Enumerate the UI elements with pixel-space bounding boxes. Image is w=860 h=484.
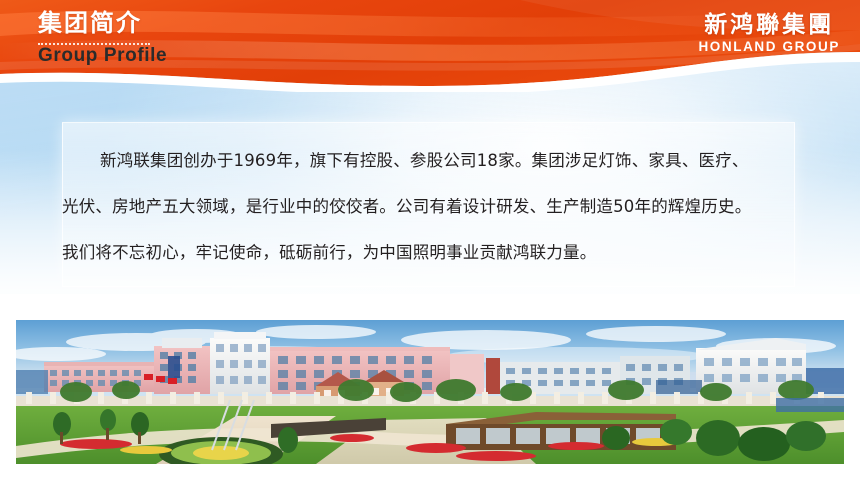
slide-group-profile: 新鸿联集团创办于1969年，旗下有控股、参股公司18家。集团涉足灯饰、家具、医疗… <box>0 0 860 484</box>
profile-paragraph-1: 新鸿联集团创办于1969年，旗下有控股、参股公司18家。集团涉足灯饰、家具、医疗… <box>62 138 822 184</box>
logo-name-cn: 新鸿聯集團 <box>698 13 840 36</box>
header-banner: 集团简介 Group Profile 新鸿聯集團 HONLAND GROUP <box>0 0 860 92</box>
logo-name-en: HONLAND GROUP <box>698 40 840 54</box>
profile-text: 新鸿联集团创办于1969年，旗下有控股、参股公司18家。集团涉足灯饰、家具、医疗… <box>62 138 822 276</box>
page-title-cn: 集团简介 <box>38 10 142 38</box>
company-logo: 新鸿聯集團 HONLAND GROUP <box>698 13 840 54</box>
profile-paragraph-3: 我们将不忘初心，牢记使命，砥砺前行，为中国照明事业贡献鸿联力量。 <box>62 230 822 276</box>
page-title-en: Group Profile <box>38 45 167 67</box>
profile-paragraph-2: 光伏、房地产五大领域，是行业中的佼佼者。公司有着设计研发、生产制造50年的辉煌历… <box>62 184 822 230</box>
campus-photo <box>16 320 844 464</box>
